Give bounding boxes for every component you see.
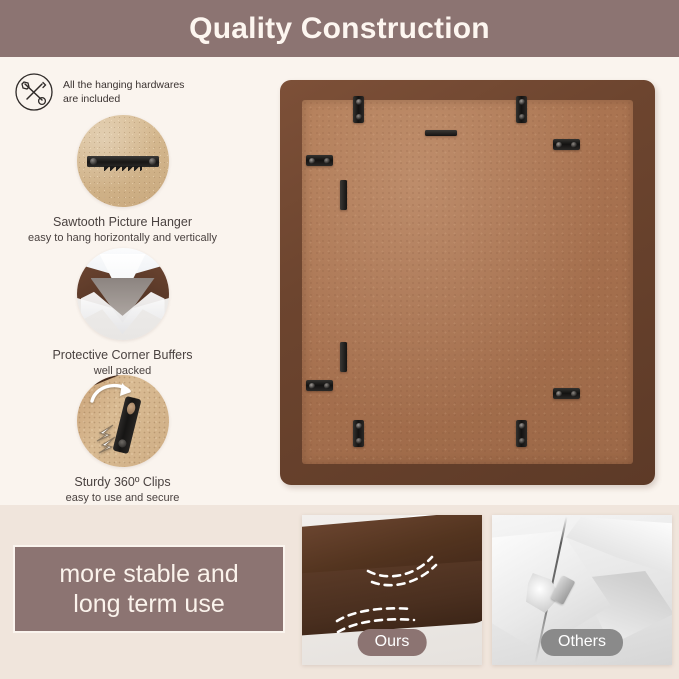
- feature-rotating-clips: Sturdy 360º Clips easy to use and secure: [0, 375, 245, 505]
- corner-buffer-photo: [77, 248, 169, 340]
- feature-sawtooth-hanger: Sawtooth Picture Hanger easy to hang hor…: [0, 115, 245, 245]
- frame-hanger-left-lower: [340, 342, 347, 372]
- others-panel: Others: [492, 515, 672, 665]
- sawtooth-screw-right: [149, 158, 156, 165]
- feature-corner-buffers: Protective Corner Buffers well packed: [0, 248, 245, 378]
- frame-clip-left-lower: [306, 380, 333, 391]
- stability-callout-text: more stable and long term use: [59, 559, 238, 619]
- sawtooth-hanger-photo: [77, 115, 169, 207]
- tools-icon: [14, 72, 54, 112]
- frame-clip-top-left: [353, 96, 364, 123]
- hardware-included-note: All the hanging hardwares are included: [14, 72, 184, 112]
- ours-highlight-dashes-upper: [366, 555, 440, 594]
- page-title: Quality Construction: [0, 0, 679, 57]
- feature-subtitle: easy to hang horizontally and vertically: [0, 231, 245, 245]
- feature-title: Sturdy 360º Clips: [0, 475, 245, 490]
- frame-clip-right-upper: [553, 139, 580, 150]
- sawtooth-screw-left: [90, 158, 97, 165]
- feature-title: Protective Corner Buffers: [0, 348, 245, 363]
- frame-clip-bottom-left: [353, 420, 364, 447]
- hardware-note-line1: All the hanging hardwares: [63, 79, 184, 91]
- rotating-clip-photo: [77, 375, 169, 467]
- sawtooth-hardware: [87, 156, 159, 167]
- slide-arrows-icon: [93, 421, 123, 464]
- feature-subtitle: easy to use and secure: [0, 491, 245, 505]
- rotation-arrow-icon: [89, 379, 133, 410]
- frame-clip-left-upper: [306, 155, 333, 166]
- picture-frame-back-photo: [280, 80, 655, 485]
- frame-clip-top-right: [516, 96, 527, 123]
- others-badge: Others: [541, 629, 623, 656]
- stability-callout: more stable and long term use: [13, 545, 285, 633]
- frame-clip-right-lower: [553, 388, 580, 399]
- frame-hanger-top: [425, 130, 457, 136]
- frame-hanger-left-upper: [340, 180, 347, 210]
- hardware-note-line2: are included: [63, 93, 120, 105]
- ours-panel: Ours: [302, 515, 482, 665]
- frame-backboard: [302, 100, 633, 464]
- feature-title: Sawtooth Picture Hanger: [0, 215, 245, 230]
- frame-clip-bottom-right: [516, 420, 527, 447]
- infographic-page: Quality Construction All the hanging har…: [0, 0, 679, 679]
- hardware-note-text: All the hanging hardwares are included: [63, 78, 184, 106]
- ours-badge: Ours: [358, 629, 427, 656]
